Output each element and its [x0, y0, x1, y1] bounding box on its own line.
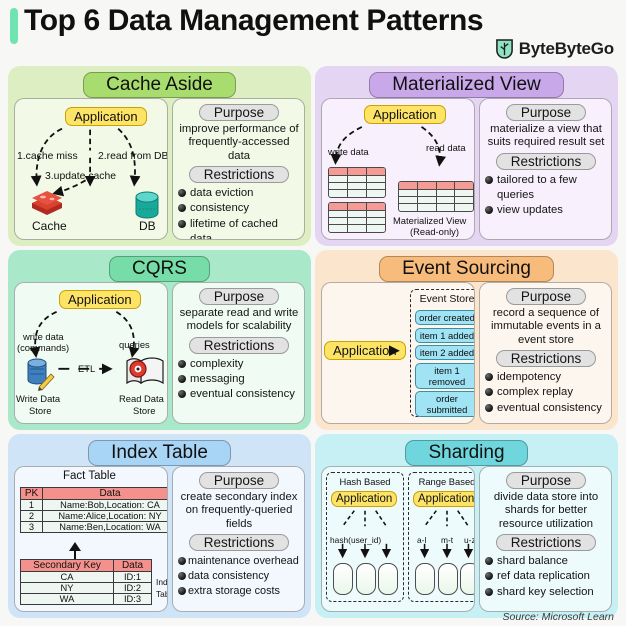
table-header-row: PK Data — [21, 488, 169, 500]
source-table-1 — [328, 167, 386, 198]
list-item: shard balance — [485, 554, 607, 569]
table-row: CA ID:1 — [21, 572, 152, 583]
arrow-label-write-data: write data — [328, 146, 369, 157]
restrictions-list: tailored to a few queries view updates — [485, 173, 607, 219]
panel-materialized-view: Materialized View Application write data… — [315, 66, 618, 246]
panel-cache-aside: Cache Aside Application 1.cache miss 2.r… — [8, 66, 311, 246]
info-cqrs: Purpose separate read and write models f… — [172, 282, 305, 424]
list-item: ref data replication — [485, 569, 607, 584]
info-materialized-view: Purpose materialize a view that suits re… — [479, 98, 612, 240]
database-icon — [134, 191, 160, 219]
node-label-cache: Cache — [32, 219, 67, 233]
panel-title-materialized-view: Materialized View — [369, 72, 564, 98]
restrictions-list: shard balance ref data replication shard… — [485, 554, 607, 600]
list-item: tailored to a few queries — [485, 173, 607, 204]
info-event-sourcing: Purpose record a sequence of immutable e… — [479, 282, 612, 424]
event-item: item 1 added — [415, 328, 475, 343]
cell-pk: 1 — [21, 500, 43, 511]
event-item: item 2 added — [415, 345, 475, 360]
list-item: lifetime of cached data — [178, 217, 300, 240]
restriction-text: eventual consistency — [190, 387, 295, 402]
brand: ByteByteGo — [495, 38, 614, 59]
restriction-text: view updates — [497, 203, 563, 218]
diagram-event-sourcing: Application Event Store order created it… — [321, 282, 475, 424]
shard-node — [438, 563, 458, 595]
bullet-icon — [485, 572, 493, 580]
purpose-text: record a sequence of immutable events in… — [485, 307, 607, 347]
col-secondary-key: Secondary Key — [21, 560, 114, 572]
restrictions-pill: Restrictions — [496, 350, 597, 367]
hash-based-group: Hash Based Application hash(user_id) — [326, 472, 404, 602]
list-item: data eviction — [178, 186, 300, 201]
table-row: 3 Name:Ben,Location: WA — [21, 522, 169, 533]
restriction-text: shard key selection — [497, 585, 594, 600]
list-item: complexity — [178, 357, 300, 372]
restriction-text: extra storage costs — [188, 584, 280, 599]
fact-table: PK Data 1 Name:Bob,Location: CA 2 Name:A… — [20, 487, 168, 533]
list-item: shard key selection — [485, 585, 607, 600]
purpose-text: materialize a view that suits required r… — [485, 123, 607, 150]
purpose-pill: Purpose — [199, 288, 279, 305]
restriction-text: shard balance — [497, 554, 568, 569]
restriction-text: complex replay — [497, 385, 573, 400]
bullet-icon — [178, 587, 186, 595]
node-label-db: DB — [139, 219, 156, 233]
shard-node — [333, 563, 353, 595]
restrictions-pill: Restrictions — [189, 337, 290, 354]
panel-title-event-sourcing: Event Sourcing — [379, 256, 554, 282]
page-header: Top 6 Data Management Patterns ByteByteG… — [0, 0, 626, 66]
table-row: 2 Name:Alice,Location: NY — [21, 511, 169, 522]
restrictions-pill: Restrictions — [189, 534, 290, 551]
shard-node — [460, 563, 475, 595]
restriction-text: complexity — [190, 357, 243, 372]
label-read-store-1: Read Data — [119, 393, 164, 404]
table-row: NY ID:2 — [21, 583, 152, 594]
arrow-label-read-data: read data — [426, 142, 466, 153]
shard-node — [378, 563, 398, 595]
list-item: complex replay — [485, 385, 607, 400]
page-title: Top 6 Data Management Patterns — [24, 4, 483, 38]
shard-node — [356, 563, 376, 595]
index-caption-line1: Index — [156, 577, 168, 587]
restrictions-pill: Restrictions — [496, 534, 597, 551]
event-item: order created — [415, 310, 475, 325]
event-item: order submitted — [415, 391, 475, 417]
cell-key: CA — [21, 572, 114, 583]
source-table-2 — [328, 202, 386, 233]
application-node: Application — [324, 341, 406, 360]
patterns-grid: Cache Aside Application 1.cache miss 2.r… — [8, 66, 618, 618]
index-link-arrow — [67, 541, 83, 561]
write-data-store-icon — [25, 357, 55, 391]
fact-table-caption: Fact Table — [63, 470, 116, 482]
cell-pk: 2 — [21, 511, 43, 522]
info-sharding: Purpose divide data store into shards fo… — [479, 466, 612, 612]
bullet-icon — [178, 220, 186, 228]
restrictions-list: maintenance overhead data consistency ex… — [178, 554, 300, 598]
bullet-icon — [485, 557, 493, 565]
bullet-icon — [485, 588, 493, 596]
restriction-text: data eviction — [190, 186, 253, 201]
bullet-icon — [485, 404, 493, 412]
restriction-text: messaging — [190, 372, 245, 387]
cell-data: ID:1 — [114, 572, 152, 583]
list-item: idempotency — [485, 370, 607, 385]
panel-sharding: Sharding Hash Based Application hash(use… — [315, 434, 618, 618]
list-item: data consistency — [178, 569, 300, 584]
restriction-text: lifetime of cached data — [190, 217, 300, 240]
label-read-store-2: Store — [133, 405, 155, 416]
restriction-text: idempotency — [497, 370, 561, 385]
arrow-label-update-cache: 3.update cache — [45, 171, 116, 182]
title-accent-bar — [10, 8, 18, 44]
list-item: consistency — [178, 201, 300, 216]
brand-text: ByteByteGo — [519, 39, 614, 59]
bullet-icon — [485, 373, 493, 381]
cell-data: Name:Ben,Location: WA — [43, 522, 169, 533]
event-store-container: Event Store order created item 1 added i… — [410, 289, 475, 417]
bullet-icon — [485, 176, 493, 184]
panel-title-index-table: Index Table — [88, 440, 231, 466]
table-row: 1 Name:Bob,Location: CA — [21, 500, 169, 511]
cell-pk: 3 — [21, 522, 43, 533]
table-header-row: Secondary Key Data — [21, 560, 152, 572]
label-write-store-1: Write Data — [16, 393, 60, 404]
shard-node — [415, 563, 435, 595]
restrictions-list: complexity messaging eventual consistenc… — [178, 357, 300, 403]
restriction-text: consistency — [190, 201, 249, 216]
application-node: Application — [65, 107, 147, 126]
panel-title-sharding: Sharding — [405, 440, 527, 466]
diagram-sharding: Hash Based Application hash(user_id) — [321, 466, 475, 612]
purpose-text: separate read and write models for scala… — [178, 307, 300, 334]
purpose-text: create secondary index on frequently-que… — [178, 491, 300, 531]
bullet-icon — [178, 360, 186, 368]
cache-icon — [30, 191, 64, 217]
arrow-label-read-from-db: 2.read from DB — [98, 151, 168, 162]
index-caption-line2: Table — [156, 589, 168, 599]
panel-event-sourcing: Event Sourcing Application Event Store o… — [315, 250, 618, 430]
restriction-text: data consistency — [188, 569, 269, 584]
purpose-text: divide data store into shards for better… — [485, 491, 607, 531]
label-queries: queries — [119, 339, 150, 350]
materialized-view-table — [398, 181, 474, 212]
bullet-icon — [178, 375, 186, 383]
cell-data: ID:3 — [114, 594, 152, 605]
list-item: maintenance overhead — [178, 554, 300, 569]
view-caption-line2: (Read-only) — [410, 226, 459, 237]
list-item: eventual consistency — [485, 401, 607, 416]
table-row: WA ID:3 — [21, 594, 152, 605]
cell-data: Name:Alice,Location: NY — [43, 511, 169, 522]
application-node: Application — [364, 105, 446, 124]
read-data-store-icon — [125, 355, 165, 389]
bullet-icon — [178, 390, 186, 398]
diagram-materialized-view: Application write data read data — [321, 98, 475, 240]
restrictions-pill: Restrictions — [189, 166, 290, 183]
range-based-group: Range Based Application a-l m-t u-z — [408, 472, 475, 602]
panel-cqrs: CQRS Application write data (commands) q… — [8, 250, 311, 430]
col-pk: PK — [21, 488, 43, 500]
application-node: Application — [59, 290, 141, 309]
bytebytego-logo-icon — [495, 38, 514, 59]
purpose-pill: Purpose — [199, 104, 279, 121]
cell-key: WA — [21, 594, 114, 605]
purpose-pill: Purpose — [506, 472, 586, 489]
purpose-pill: Purpose — [199, 472, 279, 489]
label-write-data: write data — [23, 331, 64, 342]
index-table: Secondary Key Data CA ID:1 NY ID:2 WA ID… — [20, 559, 152, 605]
list-item: extra storage costs — [178, 584, 300, 599]
info-index-table: Purpose create secondary index on freque… — [172, 466, 305, 612]
label-etl: ETL — [78, 363, 95, 374]
panel-index-table: Index Table Fact Table PK Data 1 Name:Bo… — [8, 434, 311, 618]
panel-title-cqrs: CQRS — [109, 256, 210, 282]
list-item: messaging — [178, 372, 300, 387]
restriction-text: maintenance overhead — [188, 554, 299, 569]
restriction-text: eventual consistency — [497, 401, 602, 416]
purpose-pill: Purpose — [506, 288, 586, 305]
arrow-label-cache-miss: 1.cache miss — [17, 151, 78, 162]
bullet-icon — [178, 189, 186, 197]
restriction-text: tailored to a few queries — [497, 173, 607, 204]
col-data: Data — [114, 560, 152, 572]
view-caption-line1: Materialized View — [393, 215, 466, 226]
label-commands: (commands) — [17, 342, 69, 353]
source-attribution: Source: Microsoft Learn — [503, 611, 614, 623]
label-write-store-2: Store — [29, 405, 51, 416]
cell-key: NY — [21, 583, 114, 594]
list-item: eventual consistency — [178, 387, 300, 402]
cell-data: ID:2 — [114, 583, 152, 594]
diagram-cqrs: Application write data (commands) querie… — [14, 282, 168, 424]
col-data: Data — [43, 488, 169, 500]
list-item: view updates — [485, 203, 607, 218]
cell-data: Name:Bob,Location: CA — [43, 500, 169, 511]
purpose-text: improve performance of frequently-access… — [178, 123, 300, 163]
restrictions-list: idempotency complex replay eventual cons… — [485, 370, 607, 416]
diagram-index-table: Fact Table PK Data 1 Name:Bob,Location: … — [14, 466, 168, 612]
restrictions-pill: Restrictions — [496, 153, 597, 170]
bullet-icon — [178, 557, 186, 565]
restrictions-list: data eviction consistency lifetime of ca… — [178, 186, 300, 240]
event-store-title: Event Store — [411, 293, 475, 305]
panel-title-cache-aside: Cache Aside — [83, 72, 236, 98]
bullet-icon — [485, 388, 493, 396]
bullet-icon — [178, 204, 186, 212]
diagram-cache-aside: Application 1.cache miss 2.read from DB … — [14, 98, 168, 240]
restriction-text: ref data replication — [497, 569, 590, 584]
purpose-pill: Purpose — [506, 104, 586, 121]
event-item: item 1 removed — [415, 363, 475, 389]
bullet-icon — [178, 572, 186, 580]
info-cache-aside: Purpose improve performance of frequentl… — [172, 98, 305, 240]
bullet-icon — [485, 206, 493, 214]
